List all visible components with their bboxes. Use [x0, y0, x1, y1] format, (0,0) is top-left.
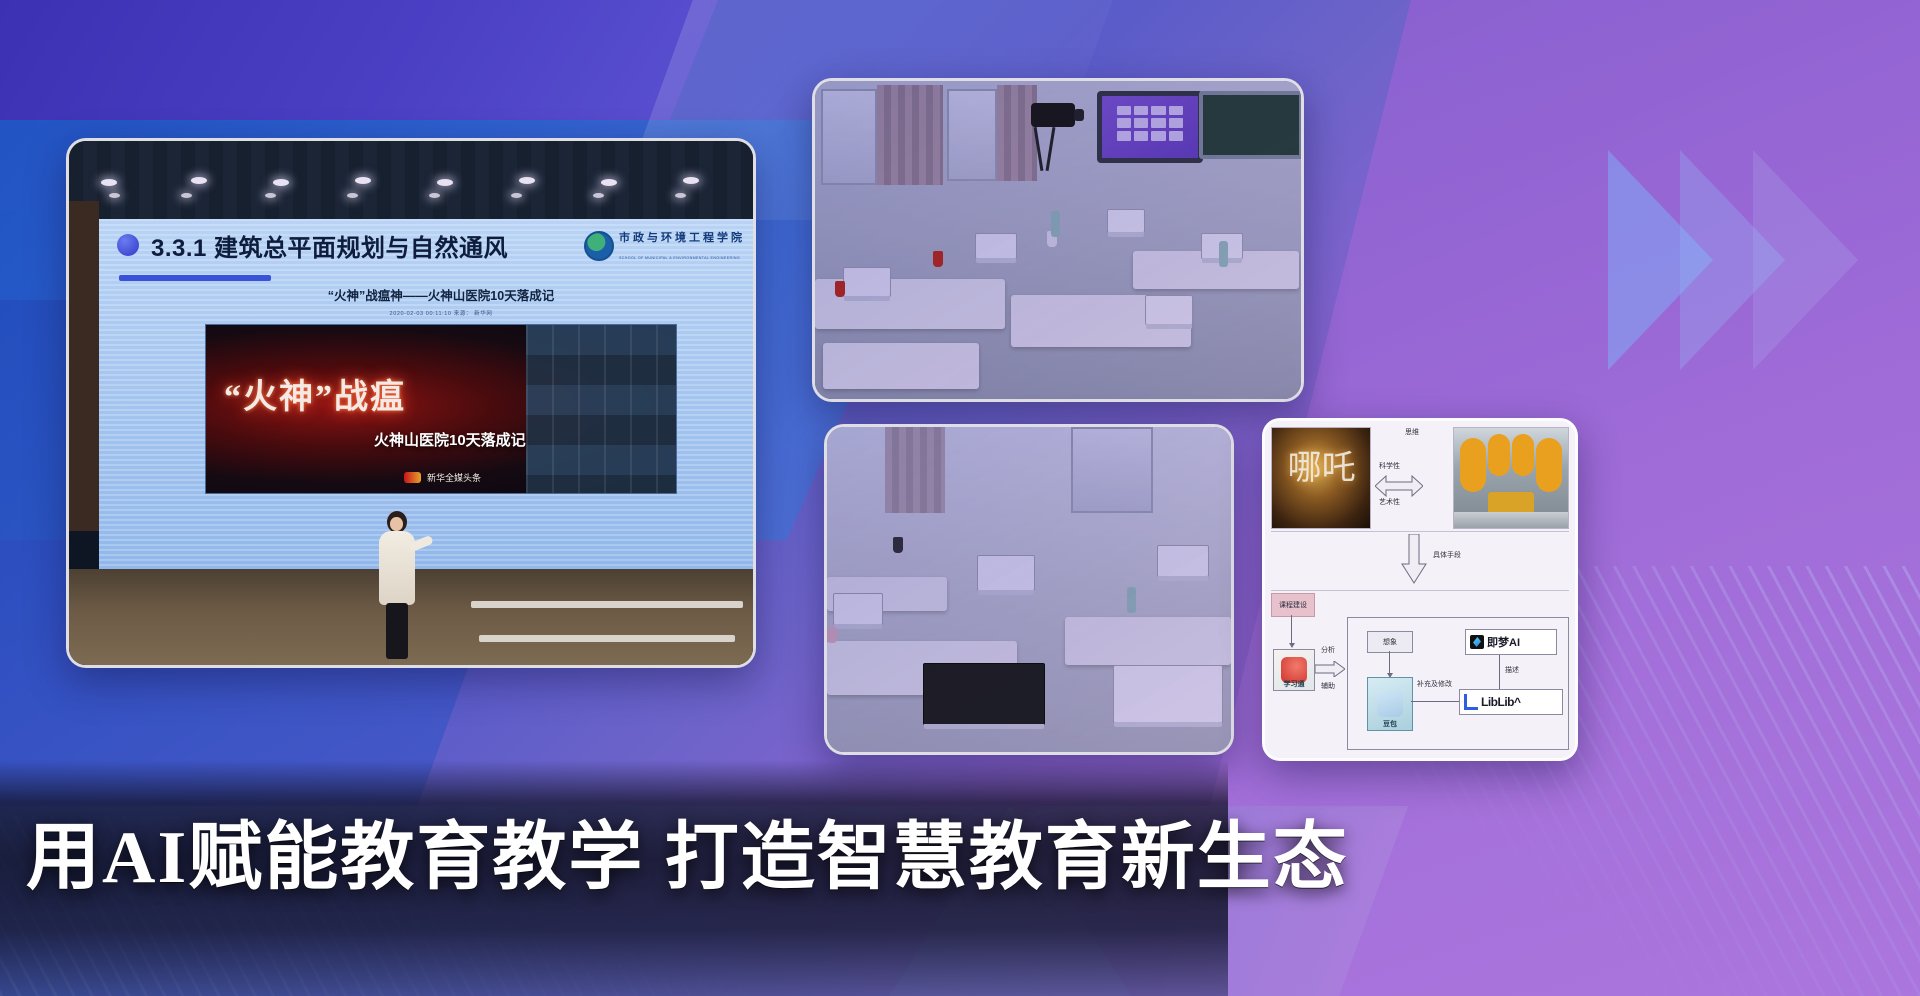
down-arrow-icon	[1401, 534, 1427, 586]
front-row-audience	[469, 547, 749, 655]
xinhua-logo-icon	[404, 472, 421, 483]
hall-scene: 3.3.1 建筑总平面规划与自然通风 市政与环境工程学院 SCHOOL OF M…	[69, 141, 753, 665]
label-scientific: 科学性	[1379, 461, 1400, 471]
classroom-bottom-photo	[824, 424, 1234, 755]
edge-label-assist: 辅助	[1321, 681, 1335, 691]
blackboard	[1199, 91, 1301, 159]
node-imagination: 想象	[1367, 631, 1413, 653]
video-poster-subline: 火神山医院10天落成记	[374, 429, 526, 450]
side-wall	[69, 201, 99, 531]
edge-label-analyze: 分析	[1321, 645, 1335, 655]
diagram-middle-row: 具体手段	[1271, 531, 1569, 591]
label-concrete-means: 具体手段	[1433, 550, 1461, 560]
diagram-top-row: 思维 哪吒 科学性 艺术性	[1271, 427, 1569, 527]
doubao-app-icon	[1377, 691, 1403, 717]
node-doubao: 豆包	[1367, 677, 1413, 731]
node-xuexitong-label: 学习通	[1274, 679, 1314, 689]
right-arrow-icon	[1315, 661, 1345, 679]
bullet-dot-icon	[117, 234, 139, 256]
slide-underline	[119, 275, 271, 281]
classroom-scene-bottom	[827, 427, 1231, 752]
poster-canvas: 3.3.1 建筑总平面规划与自然通风 市政与环境工程学院 SCHOOL OF M…	[0, 0, 1920, 996]
chevron-arrows-decoration	[1598, 150, 1898, 370]
edge-label-supplement-modify: 补充及修改	[1417, 679, 1452, 689]
college-logo-text: 市政与环境工程学院	[619, 232, 745, 244]
calligraphy-glyph: 哪吒	[1288, 440, 1356, 489]
college-emblem-icon	[584, 231, 614, 261]
video-poster: “火神”战瘟 火神山医院10天落成记 新华全媒头条	[205, 324, 677, 494]
node-doubao-label: 豆包	[1368, 719, 1412, 729]
page-title: 用AI赋能教育教学 打造智慧教育新生态	[26, 797, 1206, 904]
node-liblib: LibLib^	[1459, 689, 1563, 715]
video-camera-icon	[1031, 103, 1075, 127]
teacher-foreground-right	[1003, 569, 1083, 741]
edge-label-describe: 描述	[1505, 665, 1519, 675]
ceiling-truss	[69, 141, 753, 225]
label-artistic: 艺术性	[1379, 497, 1400, 507]
lecture-hall-photo: 3.3.1 建筑总平面规划与自然通风 市政与环境工程学院 SCHOOL OF M…	[66, 138, 756, 668]
classroom-top-photo	[812, 78, 1304, 402]
video-poster-brand: 新华全媒头条	[404, 471, 481, 484]
video-poster-headline: “火神”战瘟	[224, 369, 656, 418]
smart-display-screen	[1097, 91, 1203, 163]
node-jimeng-label: 即梦AI	[1487, 634, 1520, 650]
slide-header: 3.3.1 建筑总平面规划与自然通风 市政与环境工程学院 SCHOOL OF M…	[99, 219, 753, 271]
node-xuexitong: 学习通	[1273, 649, 1315, 691]
video-poster-brand-text: 新华全媒头条	[427, 471, 481, 484]
node-course-construction: 课程建设	[1271, 593, 1315, 617]
jimeng-logo-icon	[1470, 635, 1484, 649]
speaker-person	[369, 511, 425, 661]
bidirectional-arrow-icon	[1375, 473, 1423, 487]
video-title: “火神”战瘟神——火神山医院10天落成记	[205, 285, 677, 304]
projected-slide: 3.3.1 建筑总平面规划与自然通风 市政与环境工程学院 SCHOOL OF M…	[99, 219, 753, 589]
slide-title: 3.3.1 建筑总平面规划与自然通风	[151, 228, 508, 263]
chevron-arrow-icon	[1753, 150, 1858, 370]
liblib-logo-icon	[1464, 694, 1478, 710]
college-logo-subtext: SCHOOL OF MUNICIPAL & ENVIRONMENTAL ENGI…	[619, 256, 740, 260]
art-reference-image: 哪吒	[1271, 427, 1371, 529]
diagram-bottom-row: 课程建设 学习通 分析 辅助 想象 豆包	[1271, 593, 1569, 752]
ai-course-workflow-diagram: 思维 哪吒 科学性 艺术性	[1262, 418, 1578, 761]
label-thinking: 思维	[1405, 427, 1419, 437]
node-jimeng-ai: 即梦AI	[1465, 629, 1557, 655]
industrial-robot-image	[1453, 427, 1569, 529]
slide-video-block: “火神”战瘟神——火神山医院10天落成记 2020-02-03 00:11:10…	[205, 285, 677, 494]
college-logo: 市政与环境工程学院 SCHOOL OF MUNICIPAL & ENVIRONM…	[584, 228, 745, 264]
teacher-foreground-left	[899, 573, 977, 741]
classroom-scene-top	[815, 81, 1301, 399]
video-meta: 2020-02-03 00:11:10 来源： 新华网	[205, 309, 677, 317]
node-liblib-label: LibLib^	[1481, 695, 1521, 709]
